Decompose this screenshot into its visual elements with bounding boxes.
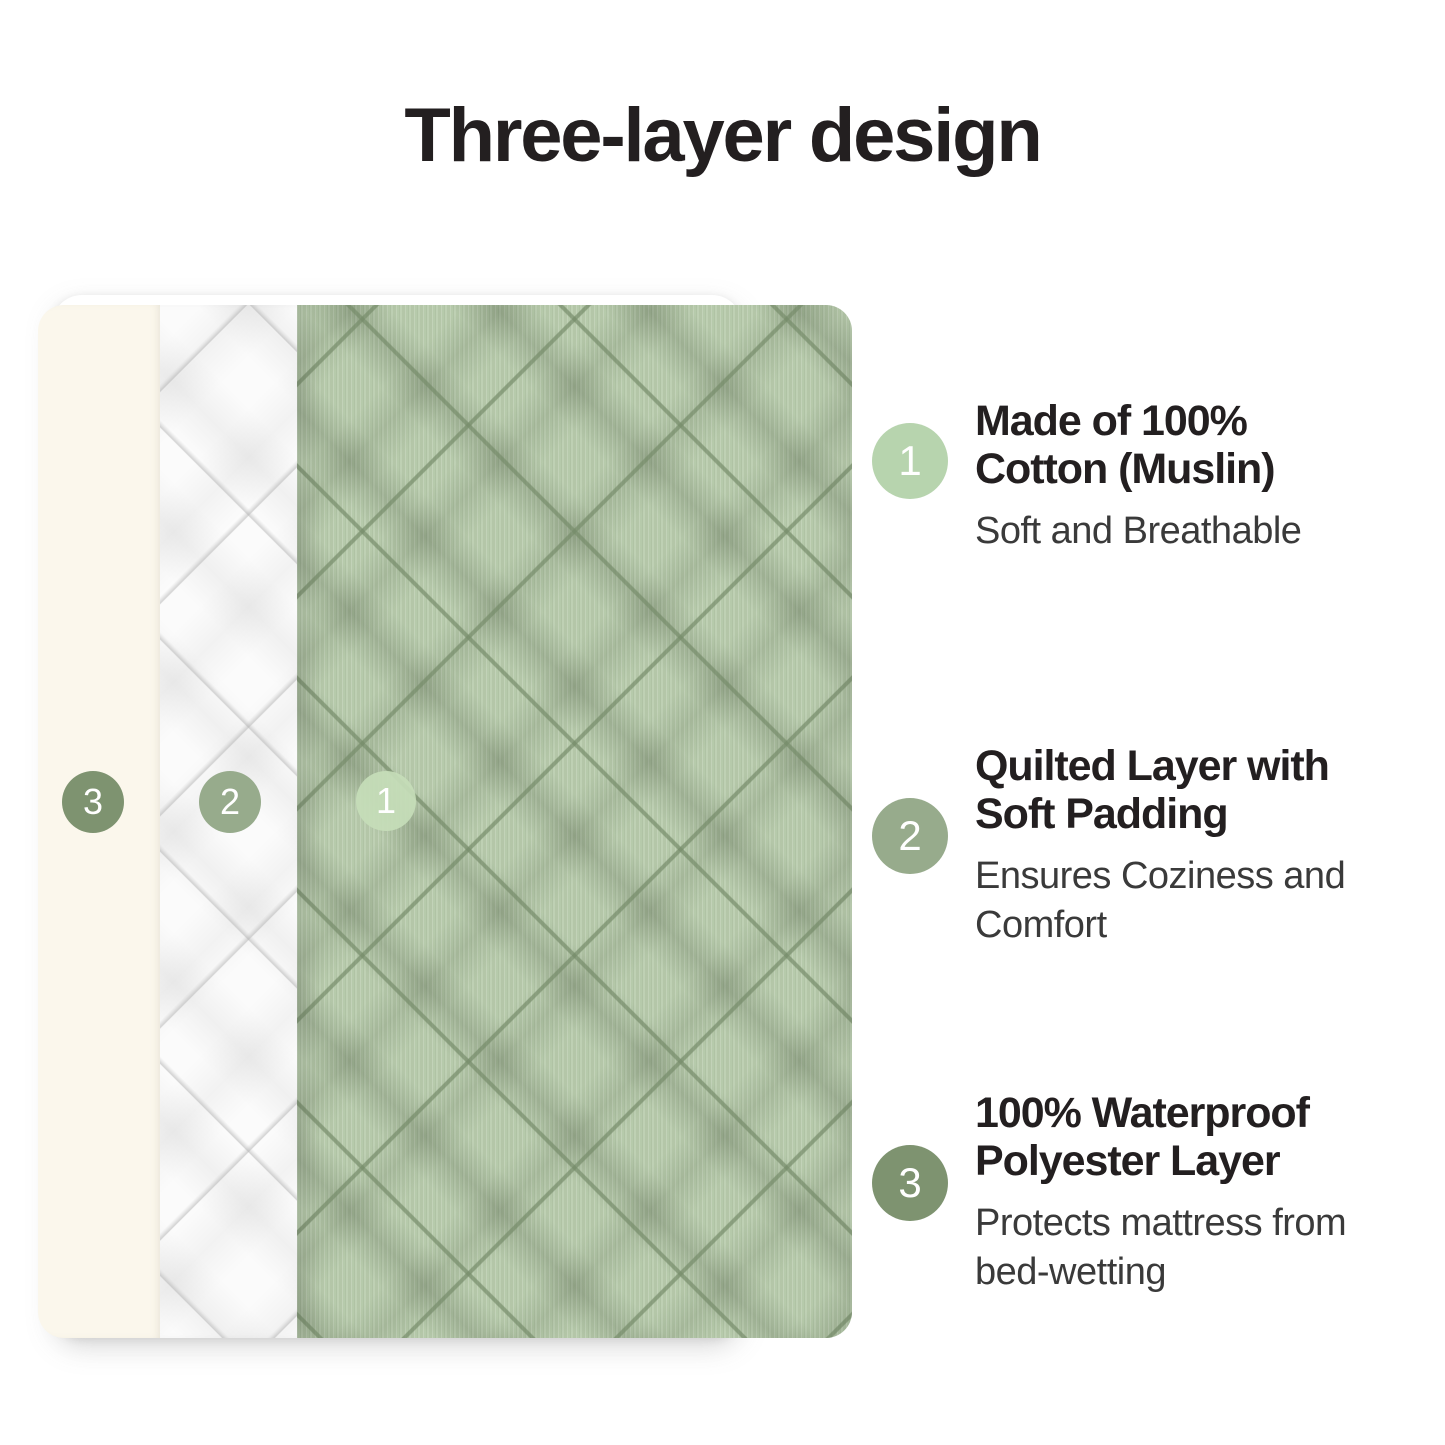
feature-badge-3: 3 [872, 1145, 948, 1221]
feature-item-2: 2 Quilted Layer with Soft Padding Ensure… [872, 740, 1432, 950]
feature-text-3: 100% Waterproof Polyester Layer Protects… [975, 1087, 1346, 1297]
stack-badge-3: 3 [62, 771, 124, 833]
feature-subtitle-2: Ensures Coziness and Comfort [975, 852, 1345, 949]
product-layer-stack: 3 2 1 [38, 305, 852, 1338]
feature-text-2: Quilted Layer with Soft Padding Ensures … [975, 740, 1345, 950]
feature-badge-2: 2 [872, 798, 948, 874]
feature-subtitle-3: Protects mattress from bed-wetting [975, 1199, 1346, 1296]
feature-title-3: 100% Waterproof Polyester Layer [975, 1089, 1346, 1185]
feature-subtitle-1: Soft and Breathable [975, 507, 1301, 556]
feature-text-1: Made of 100% Cotton (Muslin) Soft and Br… [975, 395, 1301, 556]
feature-item-1: 1 Made of 100% Cotton (Muslin) Soft and … [872, 395, 1432, 556]
stack-badge-1: 1 [356, 771, 416, 831]
feature-badge-1: 1 [872, 423, 948, 499]
feature-title-2: Quilted Layer with Soft Padding [975, 742, 1345, 838]
feature-list: 1 Made of 100% Cotton (Muslin) Soft and … [872, 330, 1432, 1340]
feature-title-1: Made of 100% Cotton (Muslin) [975, 397, 1301, 493]
feature-item-3: 3 100% Waterproof Polyester Layer Protec… [872, 1087, 1432, 1297]
page-title: Three-layer design [0, 96, 1445, 176]
stack-badge-2: 2 [199, 771, 261, 833]
